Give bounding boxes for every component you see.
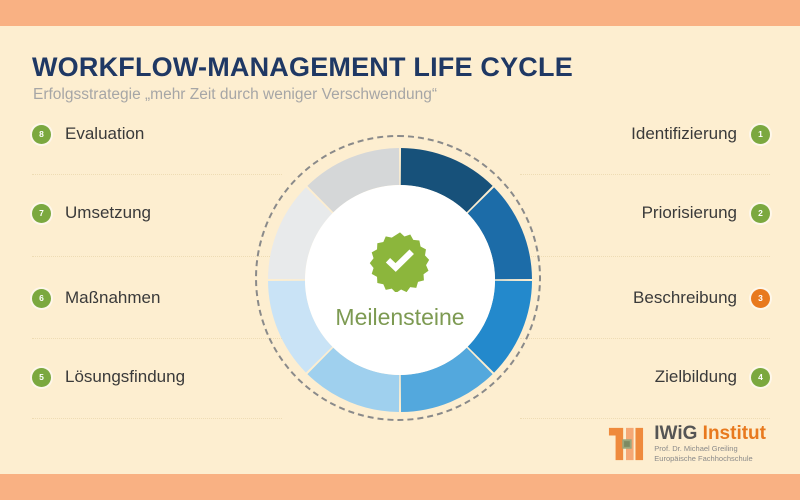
cycle-step-beschreibung[interactable]: Beschreibung 3 (530, 283, 770, 313)
separator-right-3 (520, 338, 770, 339)
cycle-step-umsetzung[interactable]: 7 Umsetzung (32, 198, 272, 228)
iwig-logo[interactable]: IWiG Institut Prof. Dr. Michael Greiling… (607, 424, 766, 464)
separator-right-2 (520, 256, 770, 257)
step-label-zielbildung: Zielbildung (655, 367, 737, 387)
logo-brand-institut: Institut (703, 423, 766, 444)
logo-subtitle-school: Europäische Fachhochschule (654, 454, 766, 464)
donut-center-label: Meilensteine (335, 304, 464, 331)
step-badge-1: 1 (751, 125, 770, 144)
cycle-step-zielbildung[interactable]: Zielbildung 4 (530, 362, 770, 392)
cycle-step-massnahmen[interactable]: 6 Maßnahmen (32, 283, 272, 313)
iwig-logo-mark-icon (607, 426, 645, 462)
step-badge-2: 2 (751, 204, 770, 223)
step-badge-4: 4 (751, 368, 770, 387)
step-label-beschreibung: Beschreibung (633, 288, 737, 308)
green-check-seal-icon (369, 230, 431, 292)
donut-center-hub: Meilensteine (305, 185, 495, 375)
step-badge-3: 3 (751, 289, 770, 308)
cycle-diagram: Meilensteine (255, 135, 545, 425)
logo-subtitle-professor: Prof. Dr. Michael Greiling (654, 444, 766, 454)
separator-left-4 (32, 418, 282, 419)
top-accent-band (0, 0, 800, 26)
separator-right-1 (520, 174, 770, 175)
cycle-step-priorisierung[interactable]: Priorisierung 2 (530, 198, 770, 228)
step-label-priorisierung: Priorisierung (642, 203, 737, 223)
step-label-identifizierung: Identifizierung (631, 124, 737, 144)
step-label-loesungsfindung: Lösungsfindung (65, 367, 185, 387)
page-subtitle: Erfolgsstrategie „mehr Zeit durch wenige… (33, 86, 437, 104)
cycle-step-evaluation[interactable]: 8 Evaluation (32, 119, 272, 149)
step-badge-6: 6 (32, 289, 51, 308)
logo-text-block: IWiG Institut Prof. Dr. Michael Greiling… (654, 424, 766, 464)
bottom-accent-band (0, 474, 800, 500)
logo-brand: IWiG Institut (654, 424, 766, 444)
step-label-evaluation: Evaluation (65, 124, 144, 144)
step-label-umsetzung: Umsetzung (65, 203, 151, 223)
page-title: WORKFLOW-MANAGEMENT LIFE CYCLE (32, 52, 573, 83)
cycle-step-loesungsfindung[interactable]: 5 Lösungsfindung (32, 362, 272, 392)
step-badge-5: 5 (32, 368, 51, 387)
infographic-canvas: WORKFLOW-MANAGEMENT LIFE CYCLE Erfolgsst… (0, 0, 800, 500)
step-badge-7: 7 (32, 204, 51, 223)
separator-right-4 (520, 418, 770, 419)
separator-left-1 (32, 174, 282, 175)
step-label-massnahmen: Maßnahmen (65, 288, 160, 308)
logo-brand-iwig: IWiG (654, 423, 697, 444)
step-badge-8: 8 (32, 125, 51, 144)
separator-left-3 (32, 338, 282, 339)
separator-left-2 (32, 256, 282, 257)
cycle-step-identifizierung[interactable]: Identifizierung 1 (530, 119, 770, 149)
